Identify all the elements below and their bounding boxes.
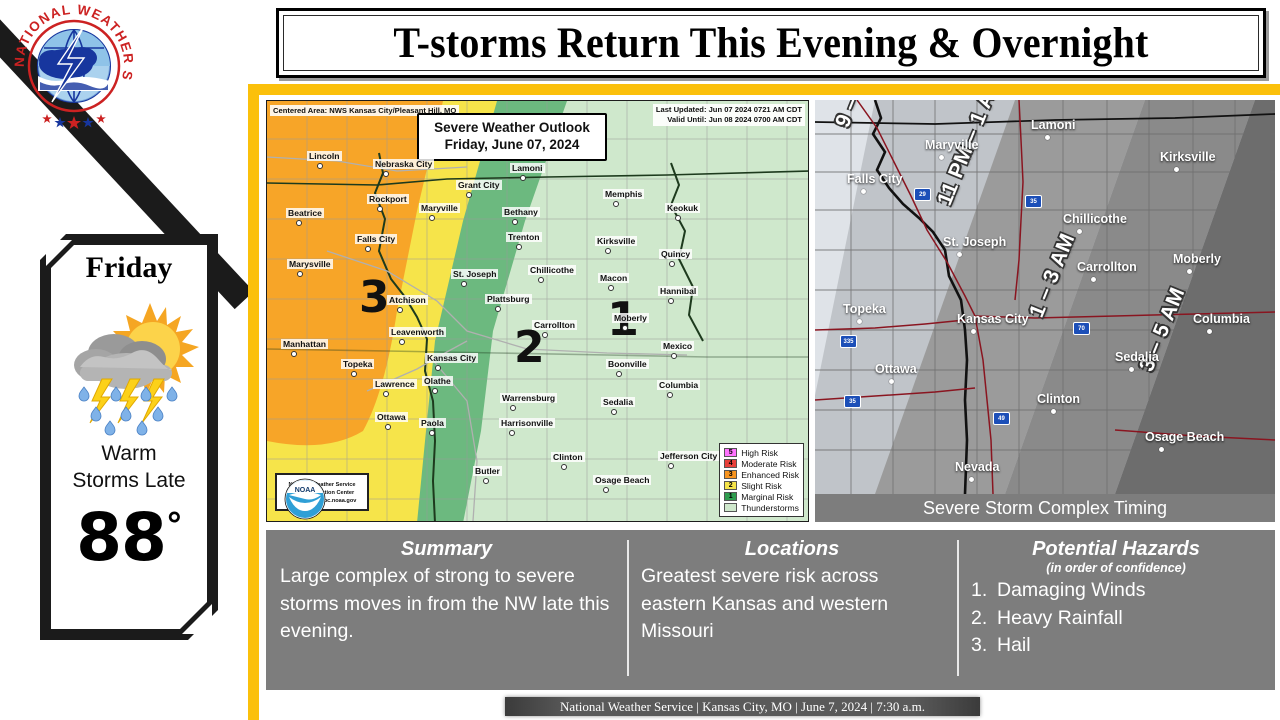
city-label: Butler bbox=[473, 466, 502, 476]
city-dot bbox=[383, 171, 389, 177]
city-label: Nevada bbox=[955, 460, 999, 474]
hazards-heading: Potential Hazards bbox=[971, 538, 1261, 561]
city-label: Keokuk bbox=[665, 203, 700, 213]
city-label: Sedalia bbox=[601, 397, 635, 407]
city-label: Memphis bbox=[603, 189, 644, 199]
city-label: Jefferson City bbox=[658, 451, 719, 461]
city-dot bbox=[516, 244, 522, 250]
city-label: Columbia bbox=[657, 380, 700, 390]
interstate-shield-70: 70 bbox=[1073, 322, 1090, 335]
city-dot bbox=[889, 379, 894, 384]
city-dot bbox=[429, 215, 435, 221]
city-label: Falls City bbox=[847, 172, 903, 186]
city-label: Rockport bbox=[367, 194, 409, 204]
national-weather-service-logo: NATIONAL WEATHER SERVICE bbox=[8, 4, 140, 134]
legend-row: 4Moderate Risk bbox=[724, 458, 799, 469]
outlook-title-box: Severe Weather Outlook Friday, June 07, … bbox=[417, 113, 607, 161]
city-dot bbox=[509, 430, 515, 436]
city-label: Kansas City bbox=[957, 312, 1029, 326]
city-dot bbox=[669, 261, 675, 267]
city-label: Moberly bbox=[1173, 252, 1221, 266]
city-dot bbox=[1077, 229, 1082, 234]
legend-row: 3Enhanced Risk bbox=[724, 469, 799, 480]
city-label: Atchison bbox=[387, 295, 428, 305]
temperature-value: 88 bbox=[76, 499, 166, 576]
city-label: St. Joseph bbox=[451, 269, 498, 279]
city-label: Boonville bbox=[606, 359, 649, 369]
storm-timing-map[interactable]: 9 – 11 PM11 PM – 1 AM1 – 3 AM3 – 5 AM Ma… bbox=[815, 100, 1275, 494]
summary-heading: Summary bbox=[280, 538, 613, 561]
outlook-risk-legend: 5High Risk4Moderate Risk3Enhanced Risk2S… bbox=[719, 443, 804, 517]
city-label: Topeka bbox=[843, 302, 886, 316]
city-dot bbox=[939, 155, 944, 160]
city-dot bbox=[538, 277, 544, 283]
city-dot bbox=[429, 430, 435, 436]
city-dot bbox=[1091, 277, 1096, 282]
forecast-card-friday: Friday bbox=[40, 234, 218, 640]
city-dot bbox=[510, 405, 516, 411]
city-dot bbox=[466, 192, 472, 198]
city-label: Ottawa bbox=[875, 362, 917, 376]
city-dot bbox=[432, 388, 438, 394]
city-dot bbox=[675, 215, 681, 221]
city-dot bbox=[399, 339, 405, 345]
city-label: Macon bbox=[598, 273, 629, 283]
hazards-column: Potential Hazards (in order of confidenc… bbox=[957, 530, 1275, 690]
weather-graphic: NATIONAL WEATHER SERVICE T-storms Return… bbox=[0, 0, 1280, 720]
noaa-spc-credit-box: NOAA National Weather Service Storm Pred… bbox=[275, 473, 369, 511]
city-dot bbox=[1174, 167, 1179, 172]
city-label: Sedalia bbox=[1115, 350, 1159, 364]
summary-column: Summary Large complex of strong to sever… bbox=[266, 530, 627, 690]
footer-bar: National Weather Service | Kansas City, … bbox=[505, 697, 980, 716]
hazards-list: 1.Damaging Winds2.Heavy Rainfall3.Hail bbox=[971, 577, 1261, 660]
city-dot bbox=[969, 477, 974, 482]
locations-body: Greatest severe risk across eastern Kans… bbox=[641, 563, 943, 646]
city-dot bbox=[1045, 135, 1050, 140]
city-label: St. Joseph bbox=[943, 235, 1006, 249]
outlook-last-updated: Last Updated: Jun 07 2024 0721 AM CDT bbox=[656, 105, 802, 115]
city-dot bbox=[608, 285, 614, 291]
city-label: Maryville bbox=[419, 203, 460, 213]
city-label: Ottawa bbox=[375, 412, 408, 422]
city-label: Kirksville bbox=[595, 236, 637, 246]
city-label: Grant City bbox=[456, 180, 502, 190]
city-dot bbox=[365, 246, 371, 252]
city-dot bbox=[1159, 447, 1164, 452]
outlook-valid-until: Valid Until: Jun 08 2024 0700 AM CDT bbox=[656, 115, 802, 125]
footer-text: National Weather Service | Kansas City, … bbox=[560, 699, 925, 715]
forecast-condition-line2: Storms Late bbox=[72, 468, 185, 495]
city-dot bbox=[512, 219, 518, 225]
city-label: Olathe bbox=[422, 376, 453, 386]
legend-row: Thunderstorms bbox=[724, 502, 799, 513]
forecast-condition: Warm Storms Late bbox=[72, 441, 185, 495]
city-dot bbox=[667, 392, 673, 398]
column-divider bbox=[627, 540, 629, 676]
city-dot bbox=[495, 306, 501, 312]
city-label: Warrensburg bbox=[500, 393, 557, 403]
hazard-item: 3.Hail bbox=[971, 632, 1261, 660]
interstate-shield-29: 29 bbox=[914, 188, 931, 201]
interstate-shield-49: 49 bbox=[993, 412, 1010, 425]
city-dot bbox=[1187, 269, 1192, 274]
city-dot bbox=[317, 163, 323, 169]
column-divider bbox=[957, 540, 959, 676]
forecast-condition-line1: Warm bbox=[72, 441, 185, 468]
city-dot bbox=[542, 332, 548, 338]
sun-behind-thunderstorm-icon bbox=[54, 287, 204, 437]
city-dot bbox=[605, 248, 611, 254]
hazards-subheading: (in order of confidence) bbox=[971, 561, 1261, 575]
city-label: Kirksville bbox=[1160, 150, 1216, 164]
info-panel: Summary Large complex of strong to sever… bbox=[266, 530, 1275, 690]
city-dot bbox=[613, 201, 619, 207]
risk-number-2: 2 bbox=[514, 326, 545, 370]
risk-number-3: 3 bbox=[359, 276, 390, 320]
legend-swatch: 2 bbox=[724, 481, 737, 490]
city-dot bbox=[1051, 409, 1056, 414]
city-label: Kansas City bbox=[425, 353, 478, 363]
city-dot bbox=[297, 271, 303, 277]
city-label: Leavenworth bbox=[389, 327, 446, 337]
hazard-item: 1.Damaging Winds bbox=[971, 577, 1261, 605]
forecast-temperature: 88° bbox=[76, 499, 182, 576]
city-dot bbox=[461, 281, 467, 287]
page-title: T-storms Return This Evening & Overnight bbox=[393, 19, 1148, 68]
locations-heading: Locations bbox=[641, 538, 943, 561]
interstate-shield-35: 35 bbox=[844, 395, 861, 408]
city-dot bbox=[1129, 367, 1134, 372]
city-label: Osage Beach bbox=[1145, 430, 1224, 444]
city-dot bbox=[385, 424, 391, 430]
city-label: Lamoni bbox=[1031, 118, 1075, 132]
legend-label: Marginal Risk bbox=[741, 492, 793, 502]
timing-map-caption: Severe Storm Complex Timing bbox=[815, 494, 1275, 522]
city-dot bbox=[603, 487, 609, 493]
city-label: Maryville bbox=[925, 138, 979, 152]
city-label: Topeka bbox=[341, 359, 374, 369]
city-dot bbox=[377, 206, 383, 212]
legend-swatch: 5 bbox=[724, 448, 737, 457]
city-label: Clinton bbox=[551, 452, 585, 462]
city-label: Chillicothe bbox=[528, 265, 576, 275]
legend-label: Enhanced Risk bbox=[741, 470, 799, 480]
locations-column: Locations Greatest severe risk across ea… bbox=[627, 530, 957, 690]
degree-symbol: ° bbox=[166, 506, 182, 546]
hazard-label: Hail bbox=[997, 632, 1031, 660]
city-dot bbox=[971, 329, 976, 334]
noaa-logo: NOAA bbox=[277, 475, 333, 522]
legend-label: Moderate Risk bbox=[741, 459, 796, 469]
city-dot bbox=[351, 371, 357, 377]
accent-stripe-left bbox=[248, 84, 259, 720]
legend-swatch: 1 bbox=[724, 492, 737, 501]
city-label: Paola bbox=[419, 418, 446, 428]
legend-label: High Risk bbox=[741, 448, 778, 458]
city-label: Lamoni bbox=[510, 163, 545, 173]
accent-stripe-top bbox=[248, 84, 1280, 95]
city-label: Carrollton bbox=[532, 320, 577, 330]
city-label: Beatrice bbox=[286, 208, 324, 218]
city-label: Hannibal bbox=[658, 286, 698, 296]
city-dot bbox=[296, 220, 302, 226]
hazard-label: Heavy Rainfall bbox=[997, 605, 1123, 633]
interstate-shield-35: 35 bbox=[1025, 195, 1042, 208]
city-dot bbox=[668, 463, 674, 469]
city-dot bbox=[291, 351, 297, 357]
city-dot bbox=[483, 478, 489, 484]
summary-body: Large complex of strong to severe storms… bbox=[280, 563, 613, 646]
city-dot bbox=[671, 353, 677, 359]
hazard-label: Damaging Winds bbox=[997, 577, 1145, 605]
legend-swatch bbox=[724, 503, 737, 512]
city-label: Columbia bbox=[1193, 312, 1250, 326]
city-label: Chillicothe bbox=[1063, 212, 1127, 226]
city-dot bbox=[435, 365, 441, 371]
city-label: Lawrence bbox=[373, 379, 417, 389]
city-label: Quincy bbox=[659, 249, 692, 259]
legend-swatch: 4 bbox=[724, 459, 737, 468]
city-label: Lincoln bbox=[307, 151, 342, 161]
outlook-title-line2: Friday, June 07, 2024 bbox=[425, 137, 599, 154]
outlook-title-line1: Severe Weather Outlook bbox=[425, 120, 599, 137]
city-label: Harrisonville bbox=[499, 418, 555, 428]
city-label: Falls City bbox=[355, 234, 397, 244]
city-dot bbox=[397, 307, 403, 313]
svg-text:NOAA: NOAA bbox=[295, 487, 316, 494]
hazard-rank: 1. bbox=[971, 577, 987, 605]
city-label: Nebraska City bbox=[373, 159, 434, 169]
city-dot bbox=[668, 298, 674, 304]
city-label: Marysville bbox=[287, 259, 333, 269]
severe-weather-outlook-map[interactable]: Centered Area: NWS Kansas City/Pleasant … bbox=[266, 100, 809, 522]
city-label: Trenton bbox=[506, 232, 542, 242]
city-label: Manhattan bbox=[281, 339, 328, 349]
city-label: Carrollton bbox=[1077, 260, 1137, 274]
city-label: Bethany bbox=[502, 207, 540, 217]
city-label: Clinton bbox=[1037, 392, 1080, 406]
hazard-rank: 3. bbox=[971, 632, 987, 660]
hazard-item: 2.Heavy Rainfall bbox=[971, 605, 1261, 633]
legend-label: Thunderstorms bbox=[741, 503, 799, 513]
city-label: Mexico bbox=[661, 341, 694, 351]
city-dot bbox=[857, 319, 862, 324]
legend-label: Slight Risk bbox=[741, 481, 782, 491]
forecast-day-label: Friday bbox=[86, 251, 173, 285]
city-dot bbox=[616, 371, 622, 377]
city-dot bbox=[611, 409, 617, 415]
city-dot bbox=[383, 391, 389, 397]
city-dot bbox=[1207, 329, 1212, 334]
city-label: Moberly bbox=[612, 313, 649, 323]
city-dot bbox=[861, 189, 866, 194]
legend-row: 1Marginal Risk bbox=[724, 491, 799, 502]
legend-row: 5High Risk bbox=[724, 447, 799, 458]
headline-box: T-storms Return This Evening & Overnight bbox=[276, 8, 1266, 78]
hazard-rank: 2. bbox=[971, 605, 987, 633]
city-dot bbox=[561, 464, 567, 470]
city-label: Plattsburg bbox=[485, 294, 532, 304]
city-label: Osage Beach bbox=[593, 475, 651, 485]
city-dot bbox=[957, 252, 962, 257]
outlook-timestamps: Last Updated: Jun 07 2024 0721 AM CDT Va… bbox=[653, 104, 805, 126]
city-dot bbox=[622, 325, 628, 331]
legend-swatch: 3 bbox=[724, 470, 737, 479]
interstate-shield-335: 335 bbox=[840, 335, 857, 348]
city-dot bbox=[520, 175, 526, 181]
legend-row: 2Slight Risk bbox=[724, 480, 799, 491]
